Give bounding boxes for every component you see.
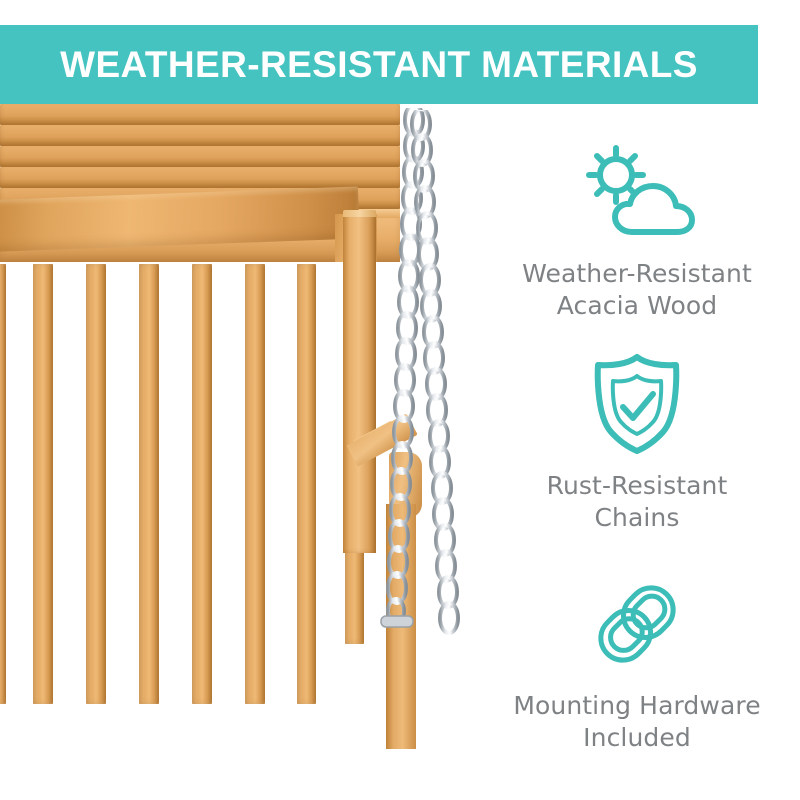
chain-right xyxy=(405,110,475,640)
header-banner: WEATHER-RESISTANT MATERIALS xyxy=(0,25,758,104)
backrest-slat xyxy=(245,264,265,704)
backrest-slat xyxy=(33,264,53,704)
page-title: WEATHER-RESISTANT MATERIALS xyxy=(60,46,698,83)
feature-icon-slot xyxy=(487,140,787,244)
feature-icon-slot xyxy=(487,572,787,676)
feature-item-rust-resistant: Rust-Resistant Chains xyxy=(487,352,787,534)
shield-check-icon xyxy=(589,352,685,456)
backrest-slat xyxy=(86,264,106,704)
corner-post-top-cap xyxy=(343,210,376,217)
feature-item-weather-resistant: Weather-Resistant Acacia Wood xyxy=(487,140,787,322)
feature-icon-slot xyxy=(487,352,787,456)
feature-item-mounting-hardware: Mounting Hardware Included xyxy=(487,572,787,754)
feature-list: Weather-Resistant Acacia Wood Rust-Resis… xyxy=(487,140,787,790)
chain-link-icon xyxy=(585,572,689,676)
feature-label: Mounting Hardware Included xyxy=(487,690,787,754)
backrest-slat xyxy=(139,264,159,704)
infographic-page: WEATHER-RESISTANT MATERIALS xyxy=(0,0,800,800)
product-photo-porch-swing xyxy=(0,104,480,800)
backrest-slat xyxy=(297,264,316,704)
seat-slat xyxy=(0,104,400,125)
backrest-slat xyxy=(0,264,6,704)
feature-label: Weather-Resistant Acacia Wood xyxy=(487,258,787,322)
sun-cloud-icon xyxy=(576,144,698,240)
seat-slat xyxy=(0,167,400,188)
corner-post xyxy=(343,213,376,553)
feature-label: Rust-Resistant Chains xyxy=(487,470,787,534)
backrest-slat xyxy=(192,264,212,704)
seat-slat xyxy=(0,146,400,167)
seat-slat xyxy=(0,125,400,146)
